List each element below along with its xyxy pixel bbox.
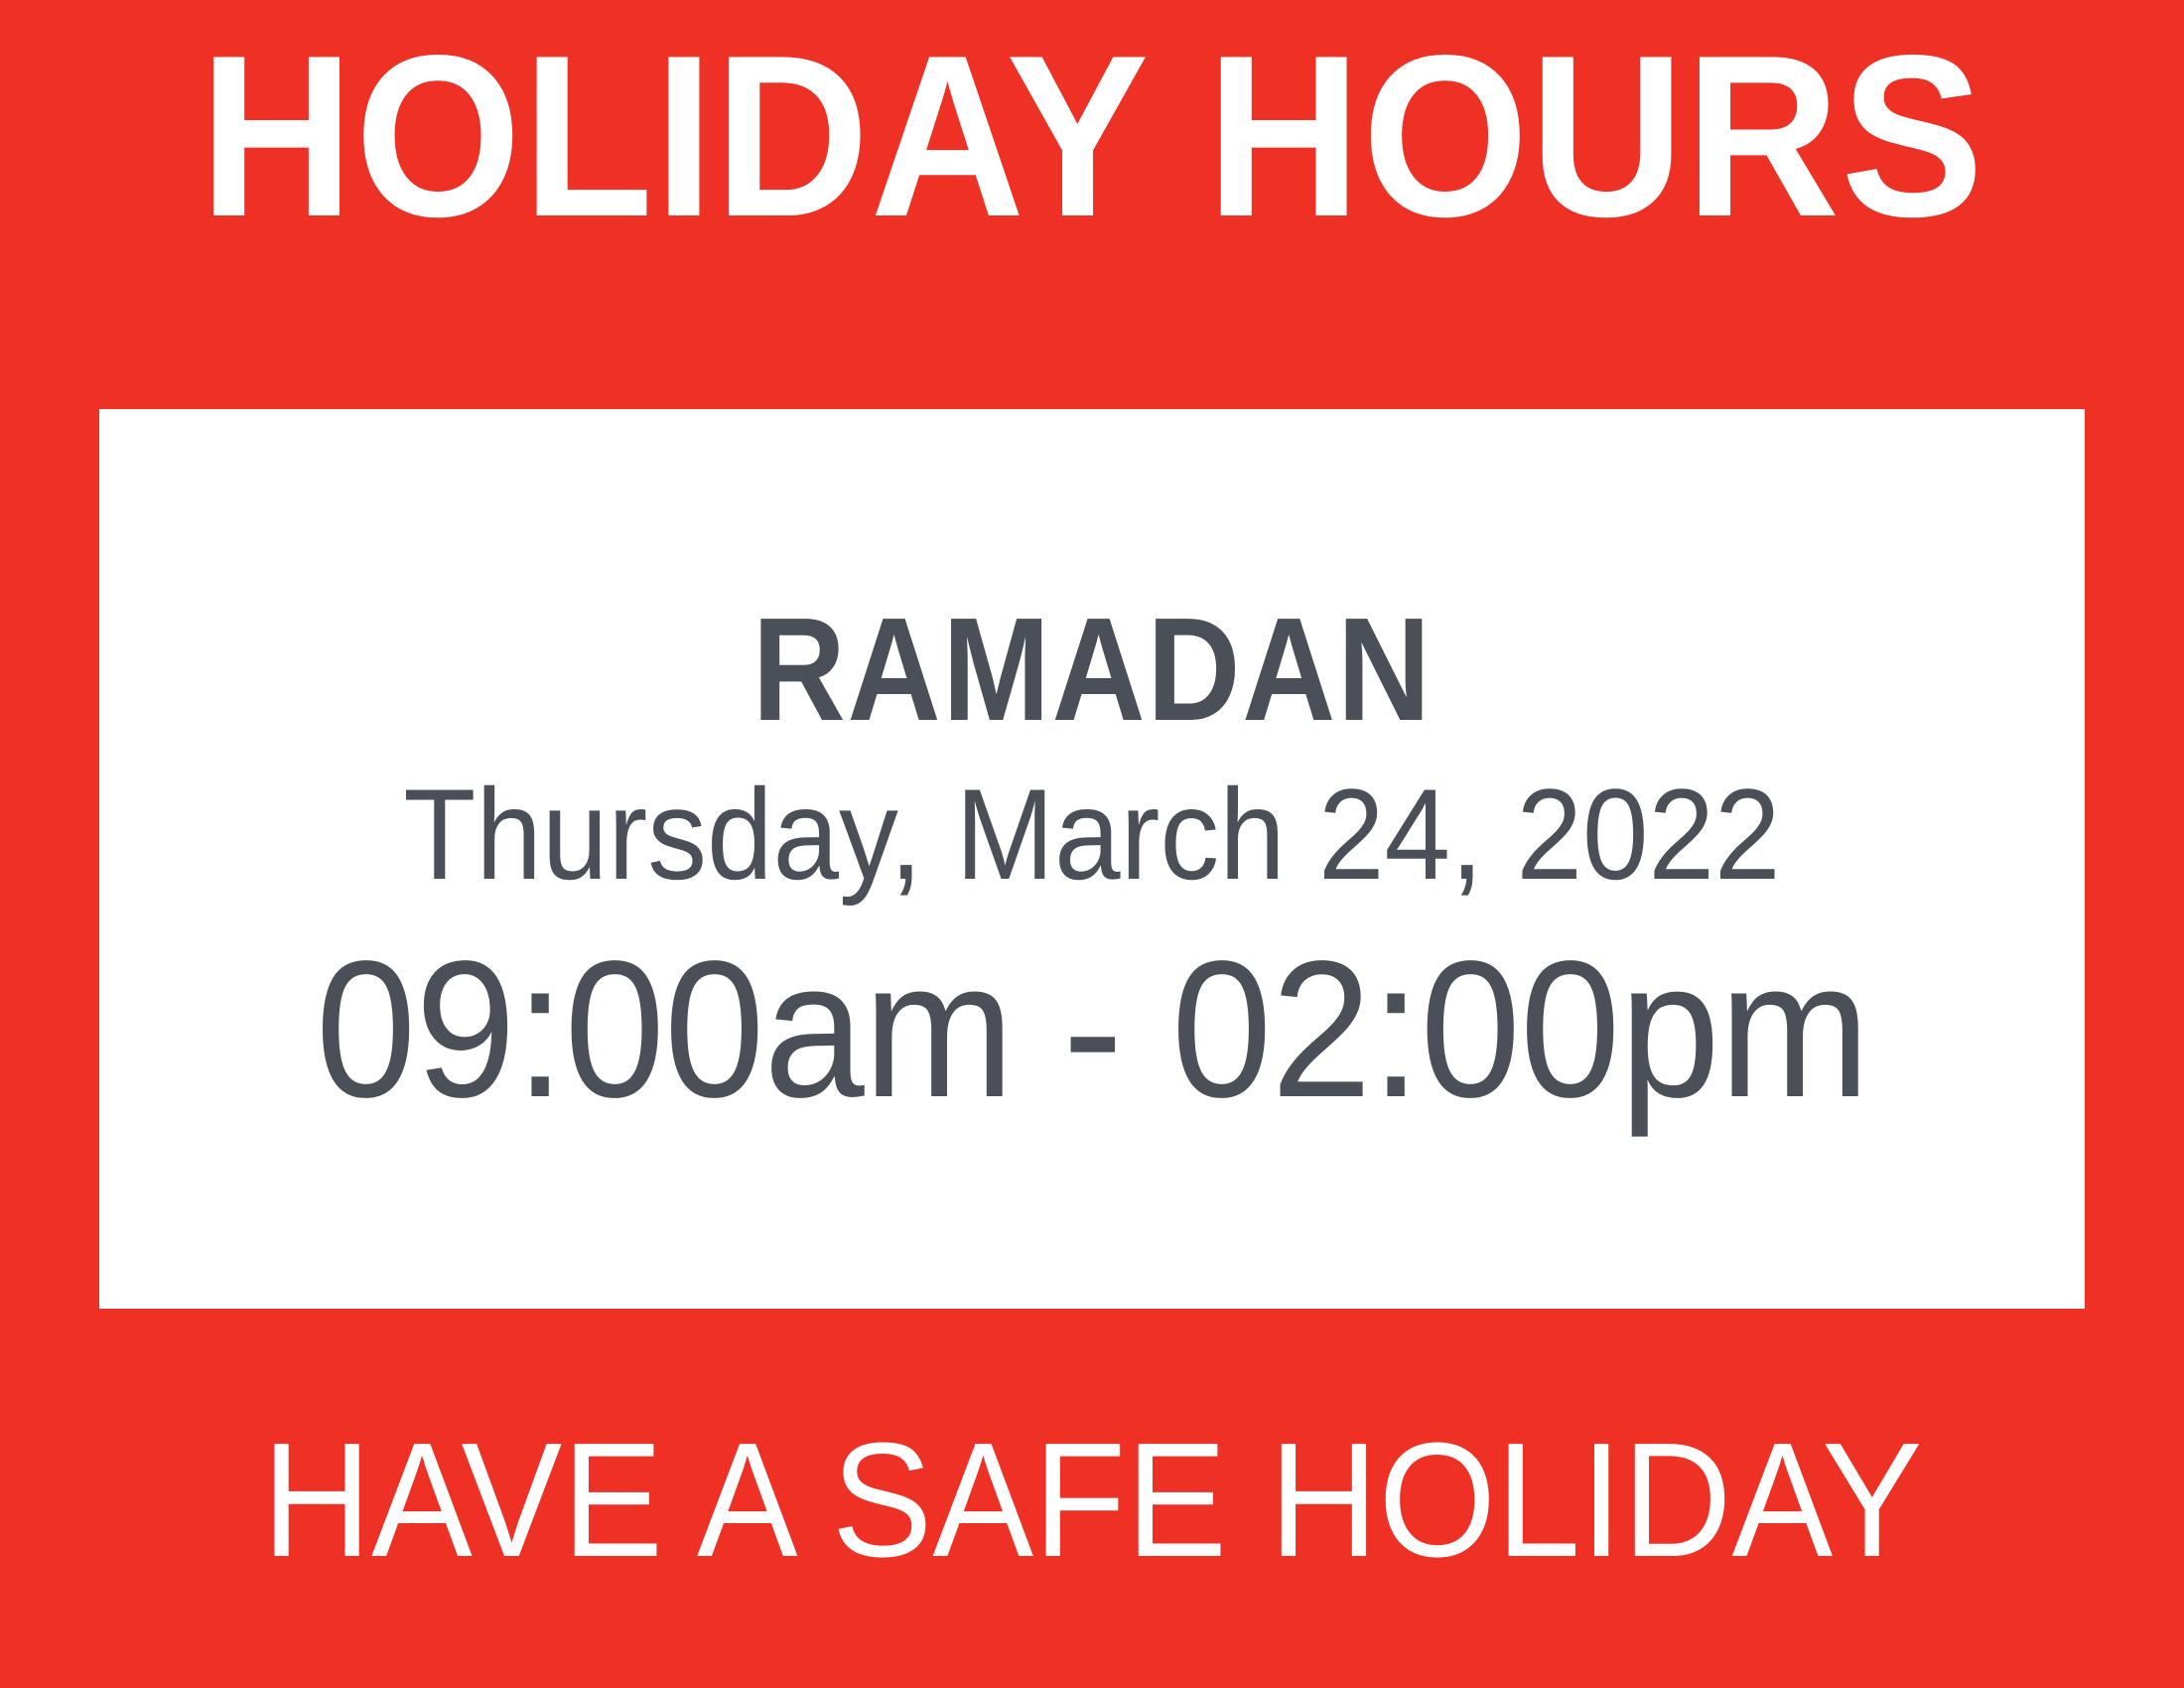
page-title: HOLIDAY HOURS — [200, 31, 1984, 242]
notice-card: RAMADAN Thursday, March 24, 2022 09:00am… — [99, 409, 2085, 1309]
holiday-date: Thursday, March 24, 2022 — [403, 770, 1780, 899]
footer-band: HAVE A SAFE HOLIDAY — [0, 1309, 2184, 1688]
notice-card-content: RAMADAN Thursday, March 24, 2022 09:00am… — [139, 597, 2045, 1127]
occasion-name: RAMADAN — [751, 597, 1432, 744]
footer-message: HAVE A SAFE HOLIDAY — [262, 1419, 1923, 1582]
headline-band: HOLIDAY HOURS — [0, 0, 2184, 409]
holiday-hours-poster: HOLIDAY HOURS RAMADAN Thursday, March 24… — [0, 0, 2184, 1688]
operating-hours: 09:00am - 02:00pm — [316, 932, 1869, 1127]
